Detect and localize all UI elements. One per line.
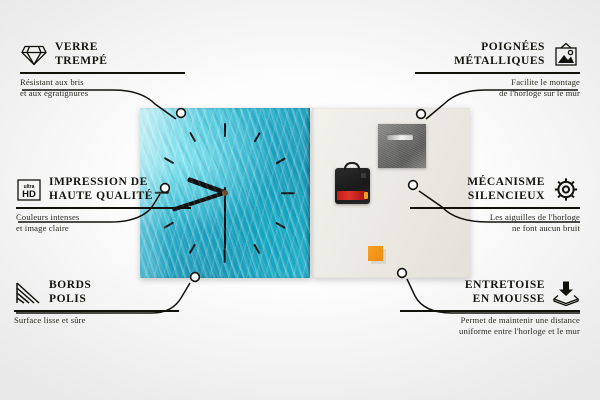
- callout-sub-line1: Résistant aux bris: [20, 77, 185, 89]
- callout-sub-line2: et aux égratignures: [20, 88, 185, 100]
- callout-sub-line1: Couleurs intenses: [16, 212, 191, 224]
- callout-title-line2: TREMPÉ: [55, 55, 108, 69]
- callout-title-line1: ENTRETOISE: [465, 279, 545, 293]
- gear-icon: [552, 176, 580, 203]
- callout-title-text: VERRE TREMPÉ: [55, 41, 108, 68]
- callout-sub-line2: uniforme entre l'horloge et le mur: [400, 326, 580, 338]
- clock-center-cap: [222, 190, 228, 196]
- callout-poignees-metalliques: POIGNÉES MÉTALLIQUES Facilite le montage…: [415, 41, 580, 100]
- callout-rule: [14, 310, 179, 311]
- callout-rule: [410, 207, 580, 208]
- callout-title-line1: IMPRESSION DE: [49, 176, 153, 190]
- callout-subtitle: Résistant aux bris et aux égratignures: [20, 77, 185, 100]
- clock-tick: [224, 132, 260, 193]
- callout-title-line1: POIGNÉES: [454, 41, 545, 55]
- callout-sub-line2: et image claire: [16, 223, 191, 235]
- callout-subtitle: Les aiguilles de l'horloge ne font aucun…: [410, 212, 580, 235]
- callout-title: MÉCANISME SILENCIEUX: [410, 176, 580, 203]
- callout-sub-line1: Surface lisse et sûre: [14, 315, 179, 327]
- callout-rule: [20, 72, 185, 73]
- callout-title-line2: POLIS: [49, 293, 91, 307]
- callout-mecanisme-silencieux: MÉCANISME SILENCIEUX Les aiguilles de l'…: [410, 176, 580, 235]
- callout-sub-line1: Permet de maintenir une distance: [400, 315, 580, 327]
- hanger-slot: [387, 134, 413, 140]
- callout-title: BORDS POLIS: [14, 279, 179, 306]
- ultra-hd-icon: ultra HD: [16, 178, 42, 202]
- callout-rule: [400, 310, 580, 311]
- callout-title-line2: MÉTALLIQUES: [454, 55, 545, 69]
- hanger-plate: [378, 124, 426, 168]
- clock-second-hand: [224, 187, 226, 249]
- callout-title: VERRE TREMPÉ: [20, 41, 185, 68]
- callout-title-text: MÉCANISME SILENCIEUX: [467, 176, 545, 203]
- callout-title-line1: BORDS: [49, 279, 91, 293]
- polished-edges-icon: [14, 281, 42, 305]
- callout-entretoise-en-mousse: ENTRETOISE EN MOUSSE Permet de maintenir…: [400, 279, 580, 338]
- diamond-icon: [20, 43, 48, 67]
- callout-title-line2: HAUTE QUALITÉ: [49, 190, 153, 204]
- foam-spacer-icon: [552, 280, 580, 306]
- callout-title-text: ENTRETOISE EN MOUSSE: [465, 279, 545, 306]
- picture-hanger-icon: [552, 42, 580, 68]
- callout-title: POIGNÉES MÉTALLIQUES: [415, 41, 580, 68]
- callout-subtitle: Couleurs intenses et image claire: [16, 212, 191, 235]
- callout-rule: [415, 72, 580, 73]
- callout-impression-haute-qualite: ultra HD IMPRESSION DE HAUTE QUALITÉ Cou…: [16, 176, 191, 235]
- callout-title-line1: MÉCANISME: [467, 176, 545, 190]
- mechanism-loop: [344, 162, 360, 171]
- mechanism-knob: [361, 173, 366, 178]
- callout-title: ENTRETOISE EN MOUSSE: [400, 279, 580, 306]
- foam-spacer: [368, 246, 383, 261]
- callout-sub-line1: Les aiguilles de l'horloge: [410, 212, 580, 224]
- clock-mechanism: [335, 168, 370, 204]
- callout-sub-line1: Facilite le montage: [415, 77, 580, 89]
- infographic-stage: VERRE TREMPÉ Résistant aux bris et aux é…: [0, 0, 600, 400]
- callout-title-text: IMPRESSION DE HAUTE QUALITÉ: [49, 176, 153, 203]
- callout-bords-polis: BORDS POLIS Surface lisse et sûre: [14, 279, 179, 326]
- callout-subtitle: Facilite le montage de l'horloge sur le …: [415, 77, 580, 100]
- callout-title: ultra HD IMPRESSION DE HAUTE QUALITÉ: [16, 176, 191, 203]
- callout-sub-line2: ne font aucun bruit: [410, 223, 580, 235]
- callout-rule: [16, 207, 191, 208]
- ultra-hd-icon-bottom-label: HD: [22, 189, 36, 200]
- battery: [337, 191, 366, 200]
- clock-tick: [225, 192, 295, 194]
- callout-sub-line2: de l'horloge sur le mur: [415, 88, 580, 100]
- callout-title-line1: VERRE: [55, 41, 108, 55]
- callout-title-line2: SILENCIEUX: [467, 190, 545, 204]
- callout-verre-trempe: VERRE TREMPÉ Résistant aux bris et aux é…: [20, 41, 185, 100]
- callout-subtitle: Permet de maintenir une distance uniform…: [400, 315, 580, 338]
- callout-subtitle: Surface lisse et sûre: [14, 315, 179, 327]
- callout-title-text: POIGNÉES MÉTALLIQUES: [454, 41, 545, 68]
- callout-title-text: BORDS POLIS: [49, 279, 91, 306]
- callout-title-line2: EN MOUSSE: [465, 293, 545, 307]
- clock-tick: [224, 123, 226, 193]
